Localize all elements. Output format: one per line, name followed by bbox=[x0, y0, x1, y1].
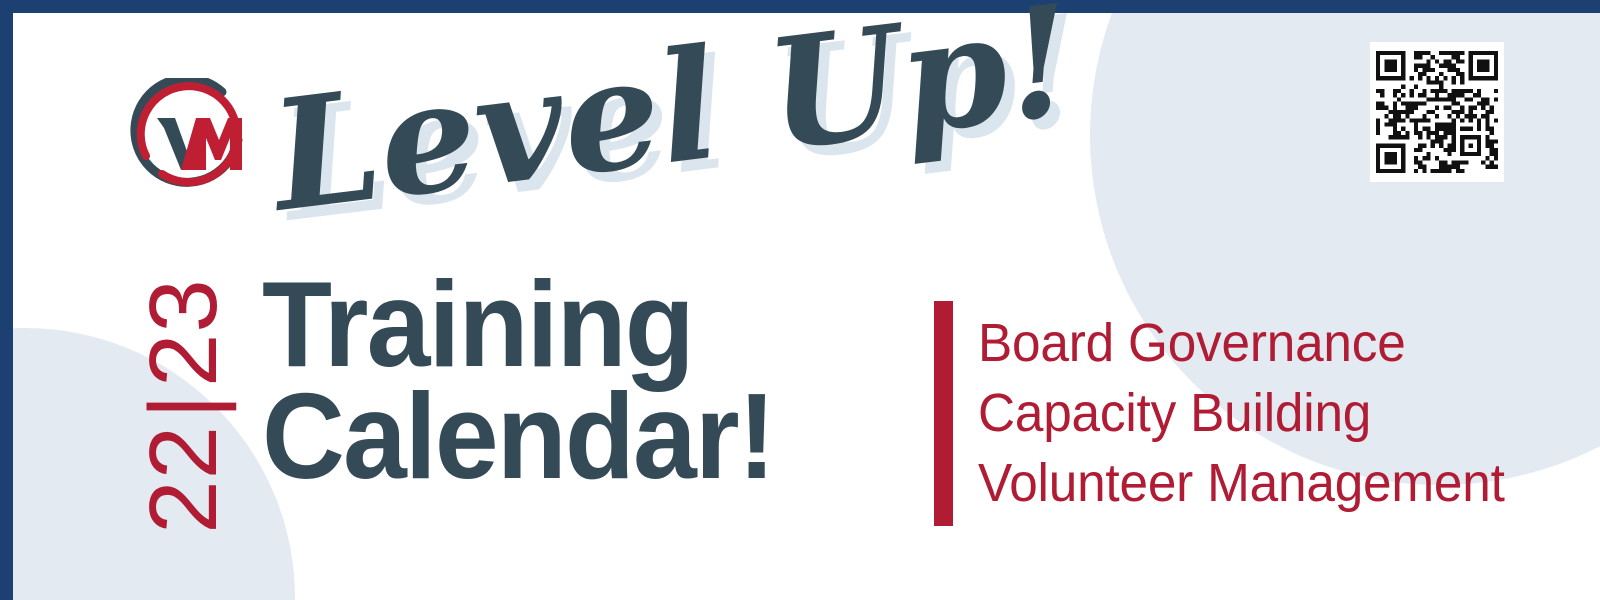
page-title: Training Calendar! bbox=[262, 268, 901, 492]
topic-item-board-governance: Board Governance bbox=[978, 308, 1548, 378]
qr-code[interactable] bbox=[1370, 42, 1504, 182]
year-badge: 22|23 bbox=[125, 262, 243, 550]
topic-item-capacity-building: Capacity Building bbox=[978, 378, 1548, 448]
year-badge-rotated-text: 22|23 bbox=[136, 278, 232, 534]
qr-code-image bbox=[1376, 51, 1498, 173]
logo-letter-m bbox=[181, 118, 242, 170]
page-title-line-2: Calendar! bbox=[262, 380, 901, 492]
navy-border-left bbox=[0, 0, 13, 600]
page-title-line-1: Training bbox=[262, 268, 901, 380]
year-start: 22 bbox=[130, 425, 237, 534]
level-up-script-wordmark: Level Up! Level Up! bbox=[268, 44, 908, 266]
vm-logo bbox=[118, 78, 260, 202]
topic-divider-bar bbox=[934, 301, 953, 526]
topic-item-volunteer-management: Volunteer Management bbox=[978, 448, 1548, 518]
topic-list: Board Governance Capacity Building Volun… bbox=[978, 308, 1548, 519]
training-calendar-banner: Level Up! Level Up! 22|23 Training Calen… bbox=[0, 0, 1600, 600]
year-separator: | bbox=[136, 387, 232, 425]
year-end: 23 bbox=[130, 278, 237, 387]
